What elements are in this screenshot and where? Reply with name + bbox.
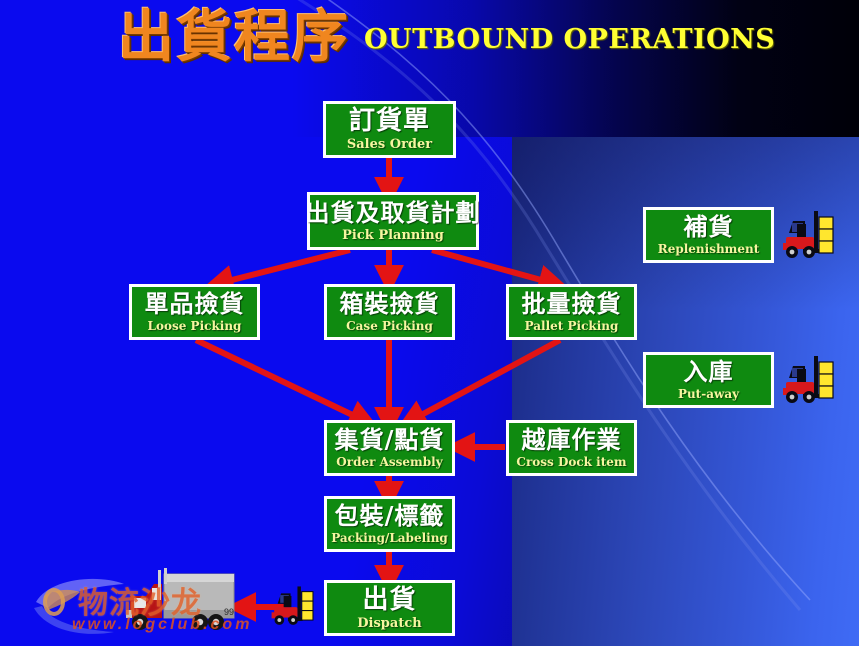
forklift-icon — [779, 352, 837, 410]
node-label-cn: 出貨及取貨計劃 — [306, 201, 481, 225]
forklift-icon — [268, 583, 320, 633]
node-label-cn: 補貨 — [684, 215, 734, 239]
pallet-icon — [819, 217, 833, 253]
slide-title: 出貨程序 OUTBOUND OPERATIONS — [118, 8, 775, 67]
node-replenishment[interactable]: 補貨 Replenishment — [643, 207, 774, 263]
node-label-cn: 入庫 — [684, 360, 734, 384]
node-put-away[interactable]: 入庫 Put-away — [643, 352, 774, 408]
node-pick-planning[interactable]: 出貨及取貨計劃 Pick Planning — [307, 192, 479, 250]
node-label-cn: 訂貨單 — [349, 108, 430, 134]
node-label-cn: 集貨/點貨 — [335, 428, 445, 452]
node-label-en: Packing/Labeling — [331, 532, 448, 544]
slide-canvas: 出貨程序 OUTBOUND OPERATIONS — [0, 0, 859, 646]
node-label-en: Pallet Picking — [525, 320, 619, 332]
title-english: OUTBOUND OPERATIONS — [364, 24, 775, 67]
pallet-icon — [819, 362, 833, 398]
node-label-en: Sales Order — [347, 138, 432, 151]
node-label-cn: 包裝/標籤 — [335, 504, 445, 528]
forklift-icon — [779, 207, 837, 265]
node-label-en: Loose Picking — [148, 320, 242, 332]
node-label-en: Order Assembly — [336, 456, 442, 468]
node-packing-labeling[interactable]: 包裝/標籤 Packing/Labeling — [324, 496, 455, 552]
node-label-en: Pick Planning — [342, 229, 444, 242]
node-case-picking[interactable]: 箱裝撿貨 Case Picking — [324, 284, 455, 340]
pallet-icon — [302, 592, 313, 620]
node-label-en: Dispatch — [357, 617, 421, 630]
node-label-cn: 箱裝撿貨 — [340, 292, 440, 316]
node-label-cn: 批量撿貨 — [522, 292, 622, 316]
watermark-url: www.logclub.com — [72, 616, 252, 634]
node-dispatch[interactable]: 出貨 Dispatch — [324, 580, 455, 636]
title-chinese: 出貨程序 — [118, 8, 350, 67]
node-label-en: Put-away — [678, 388, 739, 400]
node-label-cn: 單品撿貨 — [145, 292, 245, 316]
node-label-en: Case Picking — [346, 320, 433, 332]
node-cross-dock[interactable]: 越庫作業 Cross Dock item — [506, 420, 637, 476]
node-label-en: Replenishment — [658, 243, 760, 255]
node-order-assembly[interactable]: 集貨/點貨 Order Assembly — [324, 420, 455, 476]
node-label-cn: 出貨 — [362, 587, 416, 613]
node-pallet-picking[interactable]: 批量撿貨 Pallet Picking — [506, 284, 637, 340]
node-sales-order[interactable]: 訂貨單 Sales Order — [323, 101, 456, 158]
node-label-en: Cross Dock item — [516, 456, 626, 468]
node-label-cn: 越庫作業 — [522, 428, 622, 452]
node-loose-picking[interactable]: 單品撿貨 Loose Picking — [129, 284, 260, 340]
